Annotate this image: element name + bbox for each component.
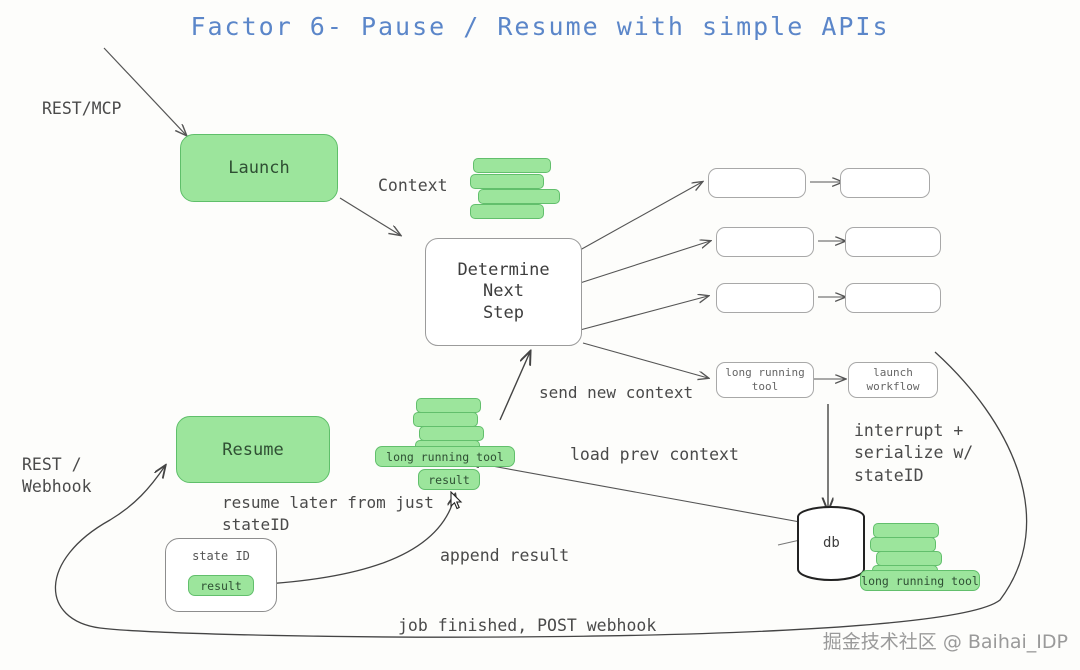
node-determine-next-step[interactable]: Determine Next Step: [425, 238, 582, 346]
label-context: Context: [378, 175, 448, 197]
context-stack-bar: [473, 158, 551, 173]
arrow-determine-to-row4: [583, 343, 708, 378]
label-resume-later: resume later from just stateID: [222, 492, 434, 535]
node-resume[interactable]: Resume: [176, 416, 330, 483]
label-load-prev-context: load prev context: [570, 444, 739, 466]
state-id-box-title: state ID: [166, 549, 276, 563]
resume-stack-long-running-tool-bar: long running tool: [375, 446, 515, 467]
pipeline-row3-right-box[interactable]: [845, 283, 941, 313]
resume-stack-bar: [413, 412, 478, 427]
mouse-cursor-icon: [450, 491, 463, 510]
arrow-db-to-resume-stack: [470, 462, 800, 522]
db-stack-bar: [876, 551, 942, 566]
db-stack-bar: [870, 537, 936, 552]
context-stack-bar: [470, 174, 544, 189]
state-id-result-chip: result: [188, 575, 254, 596]
pipeline-row1-left-box[interactable]: [708, 168, 806, 198]
arrow-launch-to-determine: [340, 198, 400, 235]
label-rest-mcp: REST/MCP: [42, 98, 121, 120]
node-launch[interactable]: Launch: [180, 134, 338, 202]
watermark: 掘金技术社区 @ Baihai_IDP: [823, 627, 1068, 654]
label-rest-webhook: REST / Webhook: [22, 454, 92, 499]
node-long-running-tool[interactable]: long running tool: [716, 362, 814, 398]
state-id-box[interactable]: state ID result: [165, 538, 277, 612]
resume-stack-bar: [416, 398, 481, 413]
resume-stack-bar: [419, 426, 484, 441]
arrow-determine-to-row1: [580, 182, 702, 250]
db-stack-long-running-tool-bar: long running tool: [860, 570, 980, 591]
pipeline-row2-right-box[interactable]: [845, 227, 941, 257]
db-stack-bar: [873, 523, 939, 538]
pipeline-row2-left-box[interactable]: [716, 227, 814, 257]
context-stack-bar: [470, 204, 544, 219]
label-job-finished: job finished, POST webhook: [398, 615, 656, 637]
resume-stack-result-bar: result: [418, 469, 480, 490]
page-title: Factor 6- Pause / Resume with simple API…: [0, 12, 1080, 41]
pipeline-row1-right-box[interactable]: [840, 168, 930, 198]
label-append-result: append result: [440, 545, 569, 567]
label-send-new-context: send new context: [539, 382, 693, 404]
arrow-determine-to-row3: [580, 296, 708, 330]
db-label: db: [823, 535, 840, 551]
diagram-canvas: Factor 6- Pause / Resume with simple API…: [0, 0, 1080, 670]
line-db-left-tick: [778, 540, 800, 545]
pipeline-row3-left-box[interactable]: [716, 283, 814, 313]
label-interrupt-serialize: interrupt + serialize w/ stateID: [854, 420, 973, 487]
context-stack-bar: [478, 189, 560, 204]
arrow-resume-stack-to-determine: [500, 352, 530, 420]
arrow-determine-to-row2: [580, 241, 710, 283]
node-launch-workflow[interactable]: launch workflow: [848, 362, 938, 398]
arrow-rest-mcp-to-launch: [104, 48, 186, 135]
